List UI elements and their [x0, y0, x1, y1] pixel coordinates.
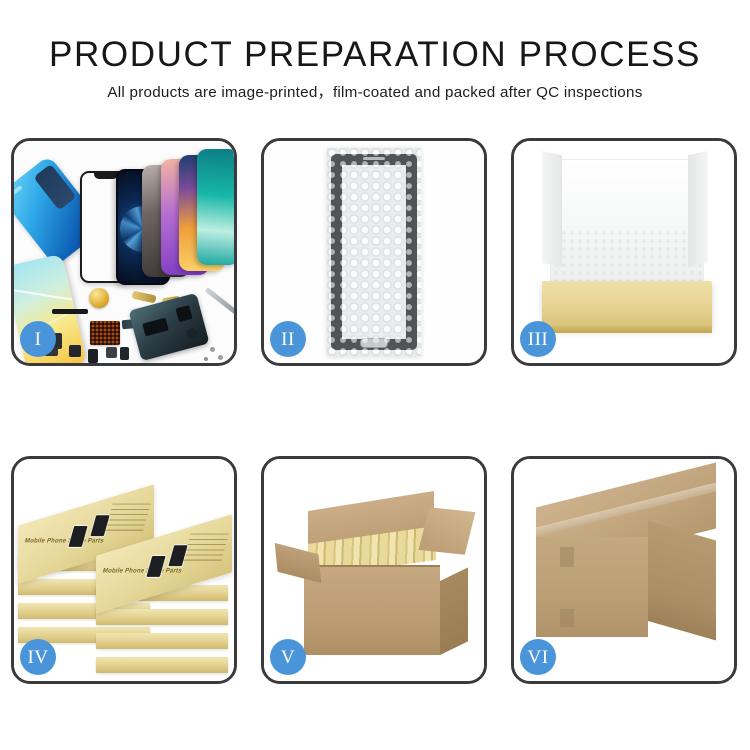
- carton-right-face: [440, 567, 468, 655]
- header: PRODUCT PREPARATION PROCESS All products…: [0, 34, 750, 103]
- step-badge-5: V: [270, 639, 306, 675]
- step-badge-6: VI: [520, 639, 556, 675]
- kraft-box-stack: Mobile Phone Spare Parts Mobile Phone Sp…: [18, 485, 234, 665]
- step-panel-6[interactable]: VI: [511, 456, 737, 684]
- carton-tab-lower: [560, 609, 574, 627]
- kraft-inner-box: [542, 281, 712, 329]
- step-badge-2: II: [270, 321, 306, 357]
- vibration-motor-part: [89, 288, 109, 308]
- screw-3: [204, 357, 208, 361]
- step-panel-1[interactable]: I: [11, 138, 237, 366]
- wrapped-phone-screen: [331, 154, 417, 350]
- screw-1: [210, 347, 215, 352]
- screw-2: [218, 355, 223, 360]
- step-badge-1: I: [20, 321, 56, 357]
- step-panel-3[interactable]: III: [511, 138, 737, 366]
- page-title: PRODUCT PREPARATION PROCESS: [0, 34, 750, 76]
- foam-texture: [552, 229, 702, 281]
- sealed-carton-front: [536, 537, 648, 637]
- box-brand-label-front: Mobile Phone Spare Parts: [102, 567, 183, 574]
- step-panel-2[interactable]: II: [261, 138, 487, 366]
- small-component-2: [88, 349, 98, 363]
- product-preparation-infographic: PRODUCT PREPARATION PROCESS All products…: [0, 0, 750, 750]
- speaker-mesh-part: [90, 321, 120, 345]
- process-steps-grid: I II: [11, 138, 739, 684]
- step-panel-5[interactable]: V: [261, 456, 487, 684]
- step-badge-4: IV: [20, 639, 56, 675]
- carton-tab-upper: [560, 547, 574, 567]
- page-subtitle: All products are image-printed，film-coat…: [0, 83, 750, 103]
- sealed-carton-right: [648, 521, 716, 640]
- step-panel-4[interactable]: Mobile Phone Spare Parts Mobile Phone Sp…: [11, 456, 237, 684]
- box-lid-left-flap: [542, 151, 562, 267]
- carton-front-face: [304, 567, 440, 655]
- kraft-box-front-3: [96, 633, 228, 649]
- phone-teal: [197, 149, 234, 265]
- box-brand-label-back: Mobile Phone Spare Parts: [24, 537, 105, 544]
- box-lid-right-flap: [688, 151, 708, 267]
- small-component-6: [120, 347, 129, 360]
- kraft-box-front-4: [96, 657, 228, 673]
- kraft-box-front-2: [96, 609, 228, 625]
- kraft-box-front-edge: [542, 326, 712, 333]
- small-component-1: [69, 345, 81, 357]
- step-badge-3: III: [520, 321, 556, 357]
- earpiece-bar-part: [52, 309, 88, 314]
- small-component-3: [106, 347, 117, 358]
